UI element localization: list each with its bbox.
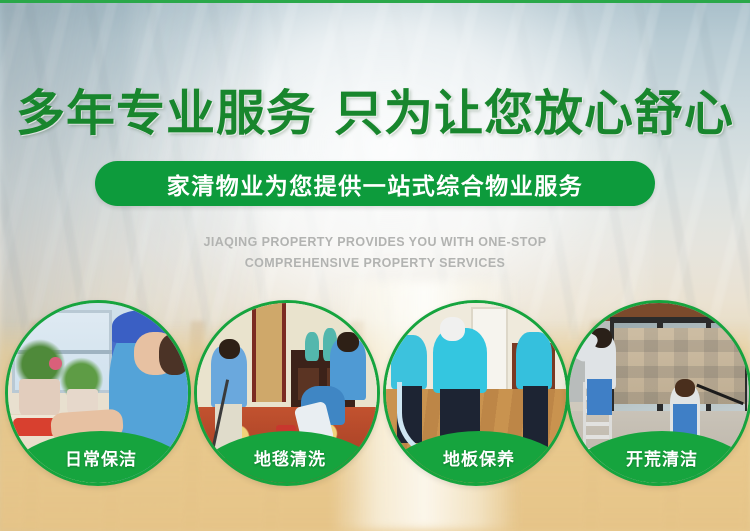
service-circle-carpet-cleaning[interactable]: 地毯清洗 [194, 300, 380, 486]
service-circle-rough-cleaning[interactable]: 开荒清洁 [566, 300, 750, 486]
tagline-pill: 家清物业为您提供一站式综合物业服务 [95, 161, 655, 206]
service-circle-daily-cleaning[interactable]: 日常保洁 [5, 300, 191, 486]
top-green-rule [0, 0, 750, 3]
english-subtitle: JIAQING PROPERTY PROVIDES YOU WITH ONE-S… [0, 232, 750, 274]
english-subtitle-line-2: COMPREHENSIVE PROPERTY SERVICES [0, 253, 750, 274]
service-circle-floor-maintenance[interactable]: 地板保养 [383, 300, 569, 486]
service-label-text: 日常保洁 [65, 445, 137, 486]
promo-banner: 多年专业服务 只为让您放心舒心 家清物业为您提供一站式综合物业服务 JIAQIN… [0, 0, 750, 531]
tagline-text: 家清物业为您提供一站式综合物业服务 [167, 167, 584, 201]
english-subtitle-line-1: JIAQING PROPERTY PROVIDES YOU WITH ONE-S… [0, 232, 750, 253]
service-label-text: 地毯清洗 [254, 445, 326, 486]
service-label-text: 地板保养 [443, 445, 515, 486]
service-label-text: 开荒清洁 [626, 445, 698, 486]
page-title: 多年专业服务 只为让您放心舒心 [0, 86, 750, 142]
